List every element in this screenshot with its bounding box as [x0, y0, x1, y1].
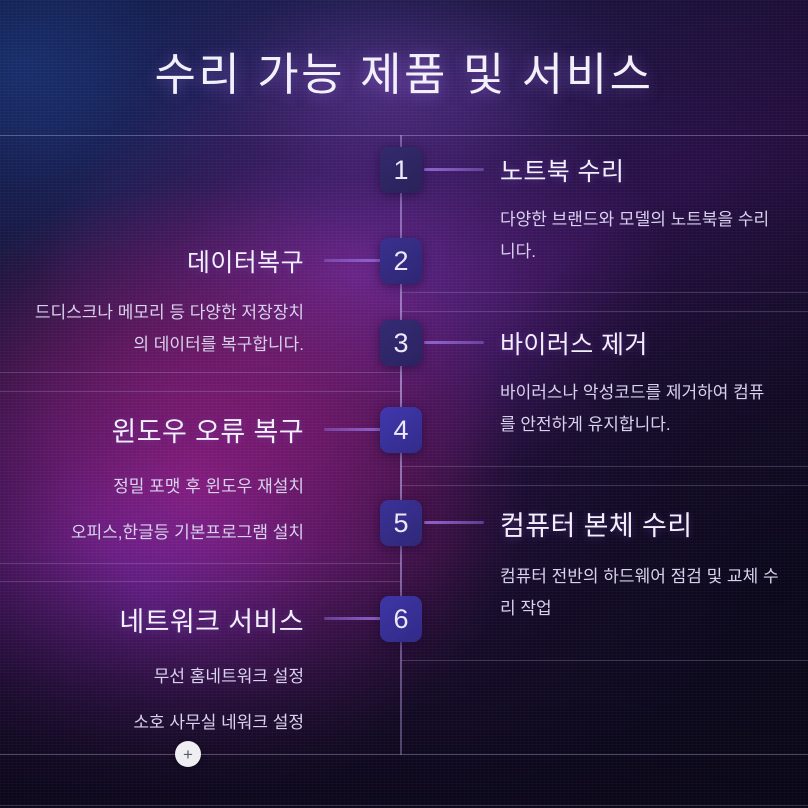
- timeline-connector-6: [324, 617, 384, 620]
- timeline-page: 수리 가능 제품 및 서비스 1 노트북 수리 다양한 브랜드와 모델의 노트북…: [0, 0, 808, 808]
- timeline-item-2: 데이터복구 드디스크나 메모리 등 다양한 저장장치 의 데이터를 복구합니다.: [0, 243, 304, 361]
- timeline-badge-3-number: 3: [393, 328, 408, 359]
- separator-line-left-2: [0, 391, 401, 392]
- timeline-connector-1: [424, 168, 484, 171]
- separator-line-left-1: [0, 372, 401, 373]
- timeline-item-5-title: 컴퓨터 본체 수리: [500, 504, 808, 543]
- timeline-item-4-desc-line-1: 정밀 포맷 후 윈도우 재설치: [0, 471, 304, 503]
- timeline-badge-4-number: 4: [393, 415, 408, 446]
- timeline-item-6: 네트워크 서비스 무선 홈네트워크 설정 소호 사무실 네워크 설정: [0, 600, 304, 739]
- timeline-item-1-desc-line-1: 다양한 브랜드와 모델의 노트북을 수리: [500, 204, 808, 236]
- timeline-item-6-desc-line-2: 소호 사무실 네워크 설정: [0, 707, 304, 739]
- timeline-item-5-desc-line-1: 컴퓨터 전반의 하드웨어 점검 및 교체 수: [500, 561, 808, 593]
- add-button[interactable]: +: [175, 741, 201, 767]
- timeline-connector-3: [424, 341, 484, 344]
- timeline-item-5-desc-line-2: 리 작업: [500, 593, 808, 625]
- timeline-item-2-desc-line-2: 의 데이터를 복구합니다.: [0, 329, 304, 361]
- timeline-item-1-desc-line-2: 니다.: [500, 236, 808, 268]
- separator-line-right-2: [401, 311, 808, 312]
- separator-line-bottom: [0, 754, 808, 755]
- timeline-connector-5: [424, 521, 484, 524]
- timeline-item-2-title: 데이터복구: [0, 243, 304, 279]
- timeline-item-1: 노트북 수리 다양한 브랜드와 모델의 노트북을 수리 니다.: [500, 152, 808, 268]
- timeline-badge-2[interactable]: 2: [380, 238, 422, 284]
- separator-line-left-4: [0, 581, 401, 582]
- separator-line-left-3: [0, 563, 401, 564]
- timeline-badge-2-number: 2: [393, 246, 408, 277]
- timeline-item-3-desc-line-1: 바이러스나 악성코드를 제거하여 컴퓨: [500, 377, 808, 409]
- timeline-item-3-desc-line-2: 를 안전하게 유지합니다.: [500, 409, 808, 441]
- timeline-item-4-desc-line-2: 오피스,한글등 기본프로그램 설치: [0, 517, 304, 549]
- timeline-badge-1-number: 1: [393, 155, 408, 186]
- timeline-badge-6-number: 6: [393, 604, 408, 635]
- separator-line-top: [0, 135, 808, 136]
- page-title: 수리 가능 제품 및 서비스: [0, 38, 808, 103]
- separator-line-right-4: [401, 485, 808, 486]
- timeline-item-4: 윈도우 오류 복구 정밀 포맷 후 윈도우 재설치 오피스,한글등 기본프로그램…: [0, 410, 304, 549]
- timeline-item-4-title: 윈도우 오류 복구: [0, 410, 304, 449]
- separator-line-right-5: [401, 660, 808, 661]
- timeline-item-5: 컴퓨터 본체 수리 컴퓨터 전반의 하드웨어 점검 및 교체 수 리 작업: [500, 504, 808, 625]
- timeline-badge-1[interactable]: 1: [380, 147, 422, 193]
- timeline-badge-3[interactable]: 3: [380, 320, 422, 366]
- separator-line-right-1: [401, 292, 808, 293]
- timeline-item-3-title: 바이러스 제거: [500, 325, 808, 361]
- separator-line-right-3: [401, 466, 808, 467]
- timeline-item-1-title: 노트북 수리: [500, 152, 808, 188]
- timeline-item-2-desc-line-1: 드디스크나 메모리 등 다양한 저장장치: [0, 297, 304, 329]
- timeline-connector-2: [324, 259, 384, 262]
- timeline-badge-5[interactable]: 5: [380, 500, 422, 546]
- plus-icon: +: [183, 746, 193, 763]
- timeline-badge-4[interactable]: 4: [380, 407, 422, 453]
- timeline-item-6-desc-line-1: 무선 홈네트워크 설정: [0, 661, 304, 693]
- timeline-item-3: 바이러스 제거 바이러스나 악성코드를 제거하여 컴퓨 를 안전하게 유지합니다…: [500, 325, 808, 441]
- timeline-item-6-title: 네트워크 서비스: [0, 600, 304, 639]
- separator-line-footer: [0, 805, 808, 806]
- timeline-connector-4: [324, 428, 384, 431]
- timeline-badge-6[interactable]: 6: [380, 596, 422, 642]
- timeline-badge-5-number: 5: [393, 508, 408, 539]
